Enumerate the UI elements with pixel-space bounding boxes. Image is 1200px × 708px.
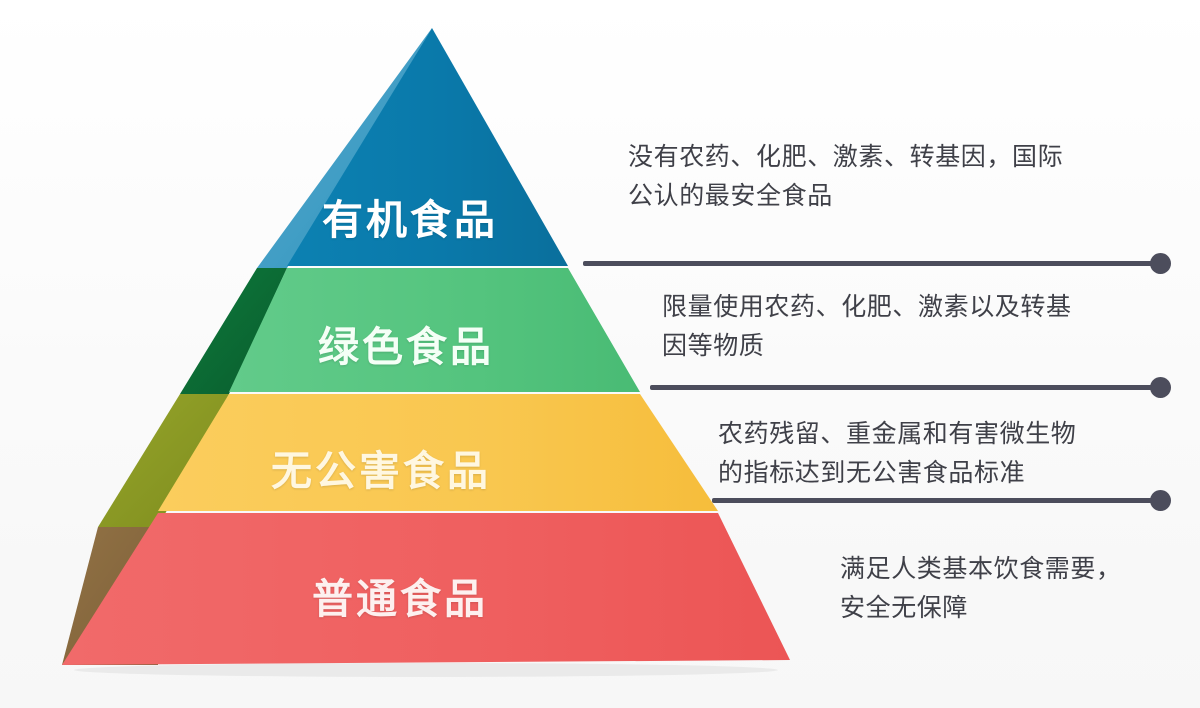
annotation-divider-line-2: [650, 385, 1155, 390]
diagram-canvas: 有机食品 绿色食品 无公害食品 普通食品 没有农药、化肥、激素、转基因，国际 公…: [0, 0, 1200, 708]
annotation-divider-line-1: [583, 261, 1155, 266]
annotation-text-pollution-free: 农药残留、重金属和有害微生物 的指标达到无公害食品标准: [718, 415, 1188, 493]
annotation-divider-dot-3: [1150, 490, 1171, 511]
annotation-text-green: 限量使用农药、化肥、激素以及转基 因等物质: [662, 288, 1188, 366]
annotation-divider-dot-1: [1150, 253, 1171, 274]
pyramid-ground-shadow: [74, 663, 778, 677]
pyramid-tier-pollution-free: [158, 394, 718, 511]
annotation-text-ordinary: 满足人类基本饮食需要， 安全无保障: [840, 550, 1188, 628]
annotation-divider-line-3: [712, 498, 1155, 503]
annotation-divider-dot-2: [1150, 377, 1171, 398]
pyramid-tier-ordinary: [62, 513, 790, 665]
annotation-text-organic: 没有农药、化肥、激素、转基因，国际 公认的最安全食品: [628, 138, 1188, 216]
pyramid-tier-green: [229, 268, 640, 392]
pyramid-tier-organic: [287, 28, 568, 266]
